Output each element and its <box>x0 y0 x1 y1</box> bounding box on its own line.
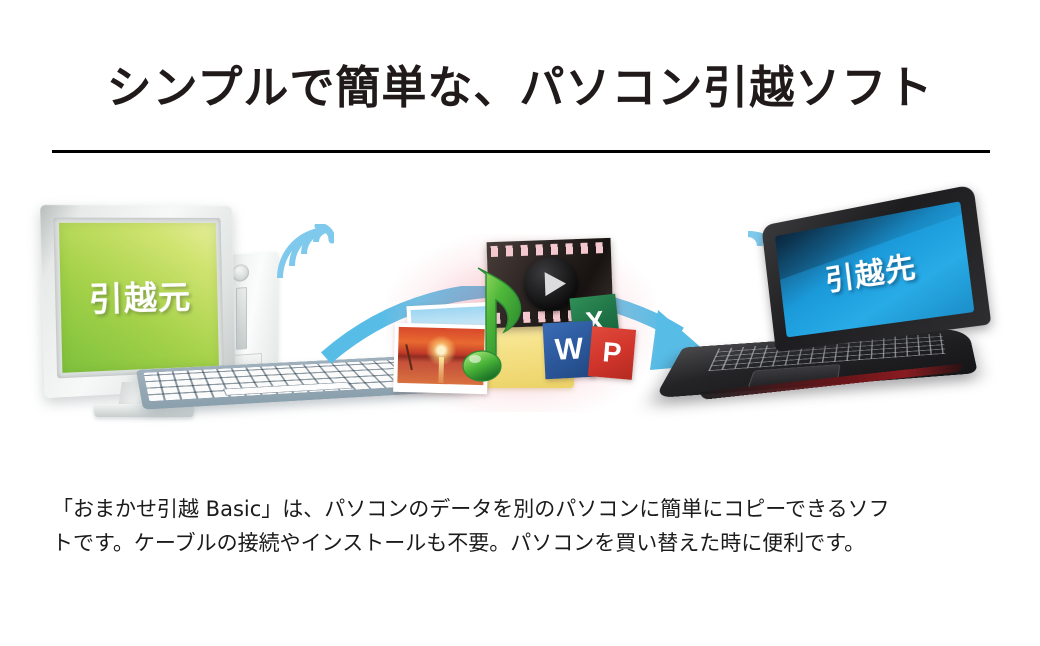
power-button-icon <box>232 264 249 282</box>
laptop-lid: 引越先 <box>761 184 991 352</box>
powerpoint-file-icon: P <box>588 326 636 380</box>
product-feature-banner: シンプルで簡単な、パソコン引越ソフト 引越元 <box>0 0 1040 646</box>
description-line-1: 「おまかせ引越 Basic」は、パソコンのデータを別のパソコンに簡単にコピーでき… <box>52 492 992 526</box>
page-title: シンプルで簡単な、パソコン引越ソフト <box>0 62 1040 114</box>
media-file-cluster: X W P <box>392 238 652 413</box>
title-divider <box>52 150 990 153</box>
illustration-stage: 引越元 <box>0 196 1040 446</box>
monitor-inner-frame: 引越元 <box>53 218 224 379</box>
film-sprockets-top <box>487 242 611 257</box>
description-line-2: トです。ケーブルの接続やインストールも不要。パソコンを買い替えた時に便利です。 <box>52 526 992 560</box>
optical-drive-slot <box>236 287 247 350</box>
source-screen: 引越元 <box>59 223 219 373</box>
sailboat-mast-icon <box>406 344 414 370</box>
source-screen-label: 引越元 <box>89 272 192 322</box>
target-screen-label: 引越先 <box>823 244 919 300</box>
page-title-area: シンプルで簡単な、パソコン引越ソフト <box>0 62 1040 114</box>
description-text: 「おまかせ引越 Basic」は、パソコンのデータを別のパソコンに簡単にコピーでき… <box>52 492 992 560</box>
target-screen: 引越先 <box>775 201 974 337</box>
music-note-icon <box>454 260 532 390</box>
play-triangle-icon <box>545 271 567 296</box>
target-laptop-computer: 引越先 <box>690 224 1000 424</box>
